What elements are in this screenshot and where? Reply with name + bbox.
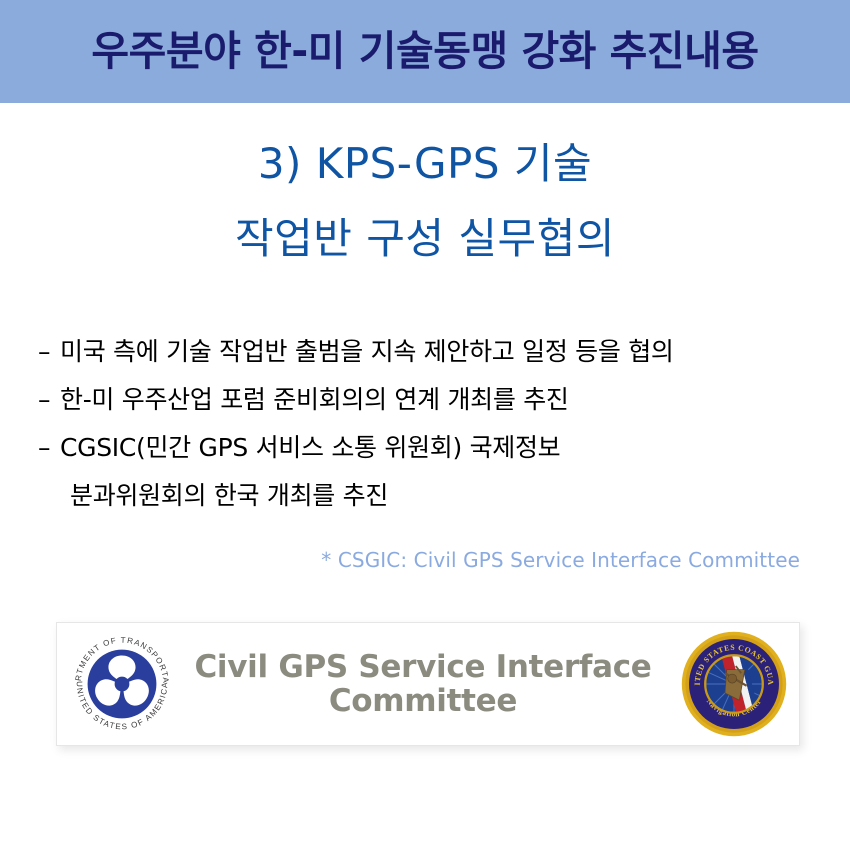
dot-seal-icon: DEPARTMENT OF TRANSPORTATION UNITED STAT… xyxy=(63,625,181,743)
footnote-text: * CSGIC: Civil GPS Service Interface Com… xyxy=(321,548,800,572)
header-band: 우주분야 한-미 기술동맹 강화 추진내용 xyxy=(0,0,850,103)
uscg-seal-container: UNITED STATES COAST GUARD Navigation Cen… xyxy=(669,630,799,738)
cgsic-banner: DEPARTMENT OF TRANSPORTATION UNITED STAT… xyxy=(56,622,800,746)
list-item-continuation: 분과위원회의 한국 개최를 추진 xyxy=(38,472,838,520)
header-title: 우주분야 한-미 기술동맹 강화 추진내용 xyxy=(91,31,758,72)
list-item-text: 한-미 우주산업 포럼 준비회의의 연계 개최를 추진 xyxy=(60,376,838,424)
uscg-navcen-seal-icon: UNITED STATES COAST GUARD Navigation Cen… xyxy=(680,630,788,738)
list-item: – 한-미 우주산업 포럼 준비회의의 연계 개최를 추진 xyxy=(38,376,838,424)
banner-title-line-2: Committee xyxy=(187,684,659,718)
list-item-text: 미국 측에 기술 작업반 출범을 지속 제안하고 일정 등을 협의 xyxy=(60,328,838,376)
page-title: 3) KPS-GPS 기술 작업반 구성 실무협의 xyxy=(0,126,850,276)
list-item: – 미국 측에 기술 작업반 출범을 지속 제안하고 일정 등을 협의 xyxy=(38,328,838,376)
dash-icon: – xyxy=(38,424,60,472)
list-item: – CGSIC(민간 GPS 서비스 소통 위원회) 국제정보 xyxy=(38,424,838,472)
dash-icon: – xyxy=(38,376,60,424)
bullet-list: – 미국 측에 기술 작업반 출범을 지속 제안하고 일정 등을 협의 – 한-… xyxy=(38,328,838,520)
list-item-text: CGSIC(민간 GPS 서비스 소통 위원회) 국제정보 xyxy=(60,424,838,472)
dash-icon: – xyxy=(38,328,60,376)
banner-title-line-1: Civil GPS Service Interface xyxy=(187,650,659,684)
dot-seal-container: DEPARTMENT OF TRANSPORTATION UNITED STAT… xyxy=(57,625,187,743)
page-title-line-1: 3) KPS-GPS 기술 xyxy=(0,126,850,201)
banner-title: Civil GPS Service Interface Committee xyxy=(187,650,669,718)
page-title-line-2: 작업반 구성 실무협의 xyxy=(0,201,850,276)
